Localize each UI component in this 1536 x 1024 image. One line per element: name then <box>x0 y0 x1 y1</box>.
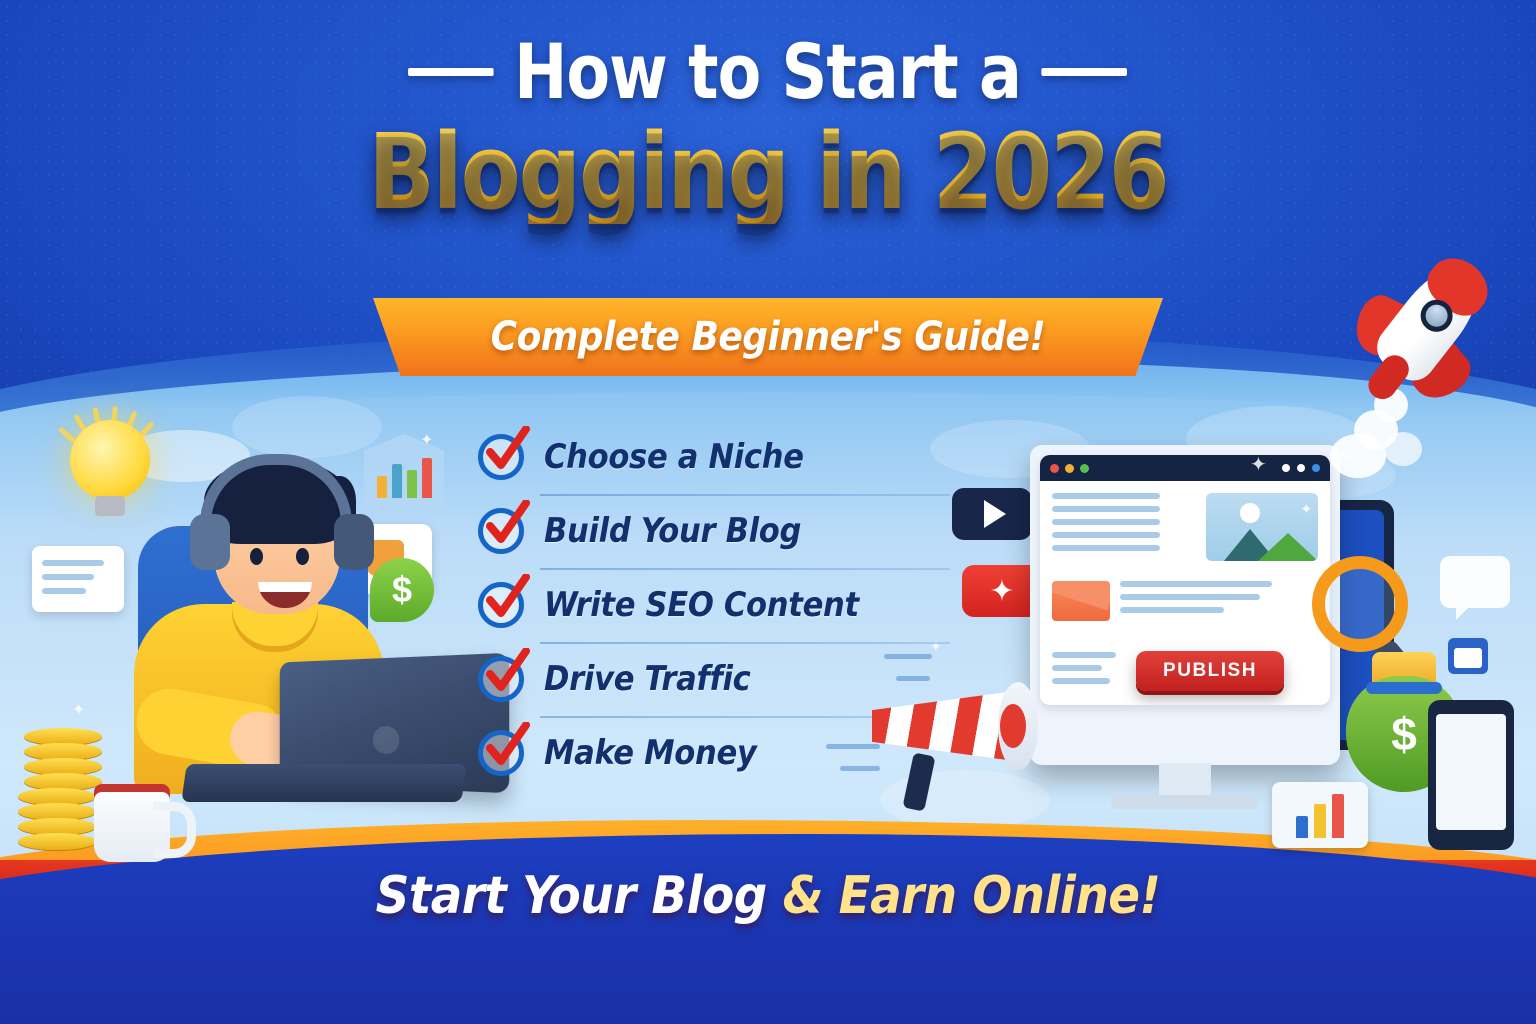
browser-content: PUBLISH <box>1040 481 1330 705</box>
megaphone-icon <box>872 668 1052 788</box>
blogger-illustration: $ <box>18 396 488 866</box>
monitor-stand-base <box>1111 795 1259 809</box>
smartphone-icon <box>1428 700 1514 850</box>
title-line-1: How to Start a <box>409 34 1128 110</box>
cta-white-text: Start Your Blog <box>376 866 783 926</box>
monitor-stand-neck <box>1159 763 1211 799</box>
text-line <box>1052 519 1160 525</box>
laptop-keyboard <box>181 764 466 802</box>
text-line <box>1052 506 1160 512</box>
checklist-item[interactable]: Make Money <box>478 716 938 790</box>
checklist-item[interactable]: Build Your Blog <box>478 494 938 568</box>
paragraph-lines <box>1120 581 1272 620</box>
checklist-item[interactable]: Choose a Niche <box>478 420 938 494</box>
title-line-1-text: How to Start a <box>515 34 1022 110</box>
checkmark-icon <box>478 508 524 554</box>
checklist-item-label: Choose a Niche <box>544 437 804 477</box>
subtitle-banner: Complete Beginner's Guide! <box>373 298 1163 376</box>
subtitle-text: Complete Beginner's Guide! <box>491 314 1046 360</box>
checklist-item[interactable]: Write SEO Content <box>478 568 938 642</box>
text-line <box>1052 532 1160 538</box>
envelope-icon <box>1052 581 1110 621</box>
paragraph-lines <box>1052 652 1116 691</box>
sparkle-icon: ✦ <box>1250 452 1267 477</box>
browser-nav-dots[interactable] <box>1282 464 1320 472</box>
headphones-icon <box>200 454 352 524</box>
play-button-icon[interactable] <box>952 488 1032 540</box>
sparkle-icon: ✦ <box>420 430 433 450</box>
dollar-bubble-icon: $ <box>370 558 434 622</box>
title-line-2-text: Blogging in 2026 <box>54 120 1482 224</box>
coffee-mug-icon <box>94 784 170 862</box>
checklist-item-label: Make Money <box>544 733 757 773</box>
headphone-earcup <box>334 514 374 570</box>
sparkle-icon: ✦ <box>72 700 85 720</box>
text-line <box>1052 493 1160 499</box>
bar-chart-card-icon <box>1272 782 1368 848</box>
window-control-dots[interactable] <box>1050 464 1089 473</box>
person-eye <box>250 548 263 565</box>
checklist: Choose a Niche Build Your Blog Write SEO… <box>478 420 938 790</box>
title-dash-left-icon <box>409 68 495 76</box>
magnifier-icon <box>1312 556 1408 652</box>
sparkle-icon: ✦ <box>1300 500 1313 518</box>
publish-button-label: PUBLISH <box>1163 660 1257 682</box>
calendar-icon <box>1448 638 1488 674</box>
light-bulb-icon <box>70 420 150 500</box>
cta-yellow-text: & Earn Online! <box>783 866 1161 926</box>
checklist-item-label: Drive Traffic <box>544 659 750 699</box>
poster-canvas: ✦ ✦ ✦ ✦ ✦ How to Start a Blogging in 202… <box>0 0 1536 1024</box>
browser-mockup: PUBLISH <box>1030 445 1340 765</box>
money-bag-tie <box>1366 682 1442 694</box>
checklist-item-label: Write SEO Content <box>544 585 859 625</box>
checklist-item[interactable]: Drive Traffic <box>478 642 938 716</box>
page-title: How to Start a Blogging in 2026 <box>0 34 1536 224</box>
checklist-item-label: Build Your Blog <box>544 511 801 551</box>
title-dash-right-icon <box>1042 68 1128 76</box>
browser-window: PUBLISH <box>1040 455 1330 705</box>
text-line <box>1052 545 1160 551</box>
checkmark-icon <box>478 582 524 628</box>
headphone-earcup <box>190 514 230 570</box>
publish-button[interactable]: PUBLISH <box>1136 651 1284 691</box>
browser-title-bar <box>1040 455 1330 481</box>
checkmark-icon <box>478 730 524 776</box>
person-eye <box>296 548 309 565</box>
chat-bubble-icon <box>1440 556 1510 608</box>
checkmark-icon <box>478 656 524 702</box>
message-card-icon <box>32 546 124 612</box>
checkmark-icon <box>478 434 524 480</box>
call-to-action: Start Your Blog & Earn Online! <box>0 866 1536 926</box>
